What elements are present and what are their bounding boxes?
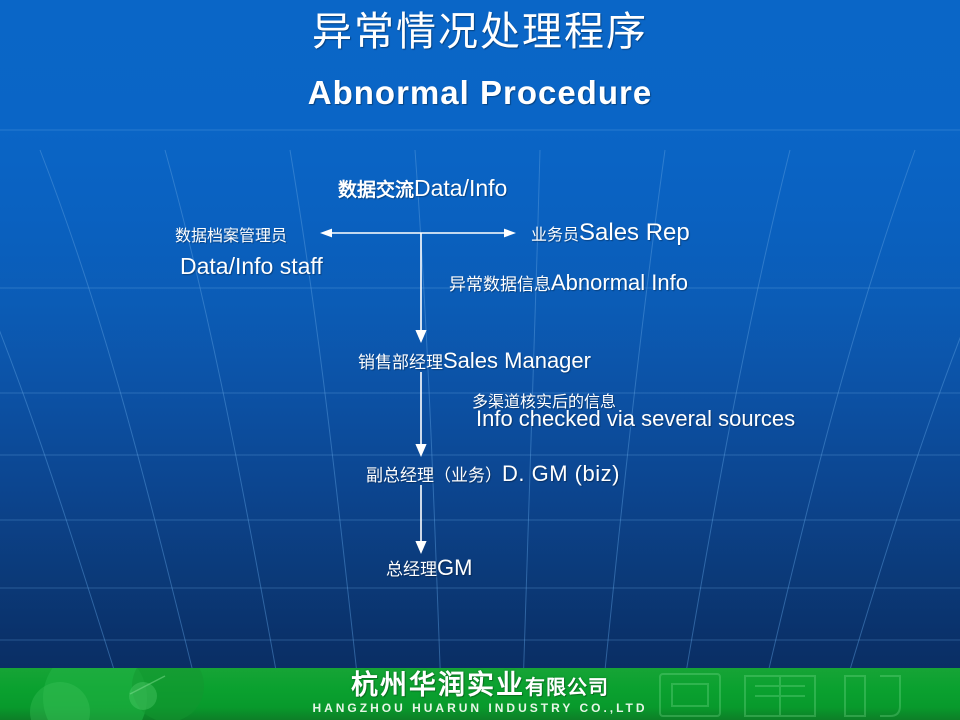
node-sales-manager-cn: 销售部经理	[358, 353, 443, 373]
link-label-data-info-cn: 数据交流	[338, 179, 414, 201]
node-sales-rep: 业务员Sales Rep	[531, 219, 690, 247]
company-footer-bar: 杭州华润实业有限公司 HANGZHOU HUARUN INDUSTRY CO.,…	[0, 668, 960, 720]
link-label-checked-info-en: Info checked via several sources	[476, 406, 795, 432]
node-sales-manager: 销售部经理Sales Manager	[358, 348, 591, 374]
link-label-abnormal-info: 异常数据信息Abnormal Info	[449, 270, 688, 296]
company-name-cn-main: 杭州华润实业	[351, 670, 525, 701]
node-gm-cn: 总经理	[386, 560, 437, 580]
company-name-cn: 杭州华润实业有限公司	[0, 671, 960, 702]
slide-canvas: 异常情况处理程序 Abnormal Procedure 数据交流Data/Inf…	[0, 0, 960, 720]
node-sales-rep-cn: 业务员	[531, 225, 579, 244]
node-deputy-gm-en: D. GM (biz)	[502, 461, 620, 486]
node-sales-rep-en: Sales Rep	[579, 219, 690, 246]
bidirectional-arrow-staff-rep	[320, 229, 516, 238]
node-deputy-gm: 副总经理（业务）D. GM (biz)	[366, 461, 620, 487]
arrow-to-deputy-gm	[415, 372, 426, 457]
link-label-abnormal-info-en: Abnormal Info	[551, 270, 688, 295]
link-label-data-info-en: Data/Info	[414, 175, 507, 201]
node-data-info-staff-cn: 数据档案管理员	[175, 222, 287, 246]
arrow-to-gm	[415, 485, 426, 554]
link-label-abnormal-info-cn: 异常数据信息	[449, 275, 551, 295]
link-label-data-info: 数据交流Data/Info	[338, 175, 507, 202]
company-name-cn-suffix: 有限公司	[525, 675, 609, 699]
node-data-info-staff-en: Data/Info staff	[180, 253, 323, 280]
company-name-en: HANGZHOU HUARUN INDUSTRY CO.,LTD	[0, 701, 960, 715]
node-gm-en: GM	[437, 555, 472, 580]
node-sales-manager-en: Sales Manager	[443, 348, 591, 373]
arrow-to-sales-manager	[415, 233, 426, 343]
node-deputy-gm-cn: 副总经理（业务）	[366, 466, 502, 486]
node-gm: 总经理GM	[386, 555, 472, 581]
